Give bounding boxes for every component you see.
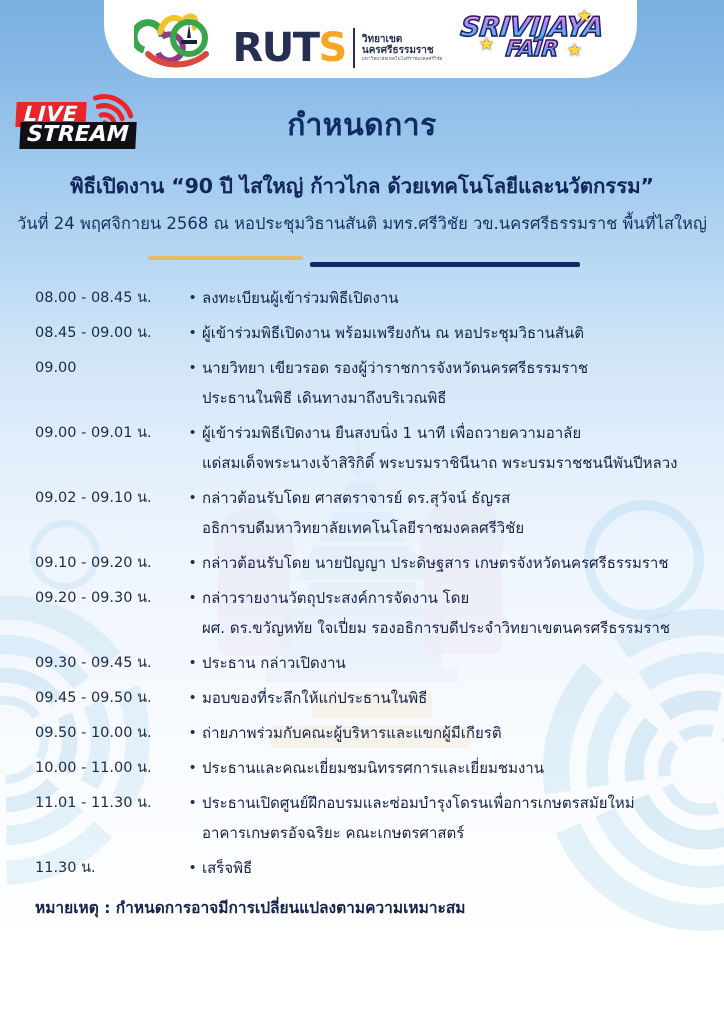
- agenda-description: •ประธานเปิดศูนย์ฝึกอบรมและซ่อมบำรุงโดรนเ…: [190, 788, 698, 848]
- agenda-text: ผู้เข้าร่วมพิธีเปิดงาน พร้อมเพรียงกัน ณ …: [202, 318, 584, 348]
- agenda-text: เสร็จพิธี: [202, 853, 252, 883]
- agenda-time: 09.45 - 09.50 น.: [35, 683, 190, 713]
- bullet-icon: •: [190, 753, 202, 783]
- agenda-text: ประธานและคณะเยี่ยมชมนิทรรศการและเยี่ยมชม…: [202, 753, 544, 783]
- bullet-icon: •: [190, 418, 202, 448]
- header-logo-card: RUTS วิทยาเขต นครศรีธรรมราช มหาวิทยาลัยเ…: [104, 0, 637, 78]
- agenda-row: 10.00 - 11.00 น.•ประธานและคณะเยี่ยมชมนิท…: [0, 753, 724, 783]
- agenda-description: •ผู้เข้าร่วมพิธีเปิดงาน พร้อมเพรียงกัน ณ…: [190, 318, 698, 348]
- agenda-text: ลงทะเบียนผู้เข้าร่วมพิธีเปิดงาน: [202, 283, 399, 313]
- ruts-wordmark: RUTS วิทยาเขต นครศรีธรรมราช มหาวิทยาลัยเ…: [232, 28, 442, 68]
- star-icon-mid: ★: [479, 34, 495, 55]
- agenda-time: 09.02 - 09.10 น.: [35, 483, 190, 513]
- ruts-word-main: RUT: [232, 25, 318, 71]
- agenda-row: 09.10 - 09.20 น.•กล่าวต้อนรับโดย นายปัญญ…: [0, 548, 724, 578]
- agenda-description: •ประธานและคณะเยี่ยมชมนิทรรศการและเยี่ยมช…: [190, 753, 698, 783]
- agenda-time: 09.50 - 10.00 น.: [35, 718, 190, 748]
- agenda-line: •อธิการบดีมหาวิทยาลัยเทคโนโลยีราชมงคลศรี…: [190, 513, 698, 543]
- agenda-text: กล่าวต้อนรับโดย ศาสตราจารย์ ดร.สุวัจน์ ธ…: [202, 483, 510, 513]
- agenda-line: •ผู้เข้าร่วมพิธีเปิดงาน ยืนสงบนิ่ง 1 นาท…: [190, 418, 698, 448]
- agenda-line: •ประธานและคณะเยี่ยมชมนิทรรศการและเยี่ยมช…: [190, 753, 698, 783]
- ruts-word: RUTS: [232, 28, 345, 68]
- agenda-row: 09.00 - 09.01 น.•ผู้เข้าร่วมพิธีเปิดงาน …: [0, 418, 724, 478]
- agenda-line: •กล่าวต้อนรับโดย นายปัญญา ประดิษฐสาร เกษ…: [190, 548, 698, 578]
- agenda-description: •ประธาน กล่าวเปิดงาน: [190, 648, 698, 678]
- ruts-divider-rule: [353, 28, 355, 68]
- agenda-time: 08.45 - 09.00 น.: [35, 318, 190, 348]
- agenda-list: 08.00 - 08.45 น.•ลงทะเบียนผู้เข้าร่วมพิธ…: [0, 283, 724, 888]
- page-title: กำหนดการ: [0, 102, 724, 149]
- ruts-subtitle-block: วิทยาเขต นครศรีธรรมราช มหาวิทยาลัยเทคโนโ…: [362, 34, 443, 63]
- star-icon-right: ★: [567, 40, 583, 61]
- divider-navy: [310, 262, 580, 267]
- agenda-line: •ผู้เข้าร่วมพิธีเปิดงาน พร้อมเพรียงกัน ณ…: [190, 318, 698, 348]
- agenda-description: •ผู้เข้าร่วมพิธีเปิดงาน ยืนสงบนิ่ง 1 นาท…: [190, 418, 698, 478]
- agenda-time: 10.00 - 11.00 น.: [35, 753, 190, 783]
- agenda-row: 09.30 - 09.45 น.•ประธาน กล่าวเปิดงาน: [0, 648, 724, 678]
- event-title: พิธีเปิดงาน “90 ปี ไสใหญ่ ก้าวไกล ด้วยเท…: [0, 170, 724, 203]
- agenda-description: •กล่าวต้อนรับโดย นายปัญญา ประดิษฐสาร เกษ…: [190, 548, 698, 578]
- ruts-sub-line1: วิทยาเขต: [362, 34, 443, 46]
- agenda-text: อาคารเกษตรอัจฉริยะ คณะเกษตรศาสตร์: [202, 818, 464, 848]
- agenda-row: 11.01 - 11.30 น.•ประธานเปิดศูนย์ฝึกอบรมแ…: [0, 788, 724, 848]
- bullet-icon: •: [190, 483, 202, 513]
- bullet-icon: •: [190, 648, 202, 678]
- ruts-word-accent: S: [319, 25, 346, 71]
- agenda-text: ผศ. ดร.ขวัญหทัย ใจเปี่ยม รองอธิการบดีประ…: [202, 613, 670, 643]
- agenda-time: 09.00: [35, 353, 190, 383]
- agenda-row: 09.20 - 09.30 น.•กล่าวรายงานวัตถุประสงค์…: [0, 583, 724, 643]
- agenda-text: ผู้เข้าร่วมพิธีเปิดงาน ยืนสงบนิ่ง 1 นาที…: [202, 418, 581, 448]
- agenda-text: แด่สมเด็จพระนางเจ้าสิริกิติ์ พระบรมราชิน…: [202, 448, 677, 478]
- agenda-line: •เสร็จพิธี: [190, 853, 698, 883]
- agenda-line: •กล่าวต้อนรับโดย ศาสตราจารย์ ดร.สุวัจน์ …: [190, 483, 698, 513]
- agenda-time: 09.10 - 09.20 น.: [35, 548, 190, 578]
- ruts-sub-line2: นครศรีธรรมราช: [362, 45, 443, 57]
- bullet-icon: •: [190, 583, 202, 613]
- agenda-line: •ประธานในพิธี เดินทางมาถึงบริเวณพิธี: [190, 383, 698, 413]
- agenda-text: อธิการบดีมหาวิทยาลัยเทคโนโลยีราชมงคลศรีว…: [202, 513, 524, 543]
- agenda-description: •กล่าวต้อนรับโดย ศาสตราจารย์ ดร.สุวัจน์ …: [190, 483, 698, 543]
- agenda-text: นายวิทยา เขียวรอด รองผู้ว่าราชการจังหวัด…: [202, 353, 588, 383]
- agenda-text: ประธาน กล่าวเปิดงาน: [202, 648, 346, 678]
- agenda-row: 11.30 น.•เสร็จพิธี: [0, 853, 724, 883]
- agenda-time: 11.01 - 11.30 น.: [35, 788, 190, 818]
- bullet-icon: •: [190, 548, 202, 578]
- agenda-text: ประธานเปิดศูนย์ฝึกอบรมและซ่อมบำรุงโดรนเพ…: [202, 788, 635, 818]
- 60-years-anniversary-logo: [134, 10, 218, 68]
- agenda-description: •นายวิทยา เขียวรอด รองผู้ว่าราชการจังหวั…: [190, 353, 698, 413]
- agenda-time: 08.00 - 08.45 น.: [35, 283, 190, 313]
- agenda-row: 08.00 - 08.45 น.•ลงทะเบียนผู้เข้าร่วมพิธ…: [0, 283, 724, 313]
- agenda-text: กล่าวต้อนรับโดย นายปัญญา ประดิษฐสาร เกษต…: [202, 548, 669, 578]
- agenda-time: 09.00 - 09.01 น.: [35, 418, 190, 448]
- agenda-description: •กล่าวรายงานวัตถุประสงค์การจัดงาน โดย•ผศ…: [190, 583, 698, 643]
- star-icon-top: ★: [577, 6, 593, 27]
- footnote: หมายเหตุ : กำหนดการอาจมีการเปลี่ยนแปลงตา…: [35, 895, 466, 920]
- bullet-icon: •: [190, 853, 202, 883]
- agenda-text: ถ่ายภาพร่วมกับคณะผู้บริหารและแขกผู้มีเกี…: [202, 718, 502, 748]
- bullet-icon: •: [190, 683, 202, 713]
- event-subtitle: วันที่ 24 พฤศจิกายน 2568 ณ หอประชุมวิธาน…: [0, 211, 724, 237]
- agenda-line: •ประธาน กล่าวเปิดงาน: [190, 648, 698, 678]
- srivijaya-fair-logo: SRIVIJAYA FAIR ★ ★ ★: [457, 4, 607, 68]
- agenda-line: •ถ่ายภาพร่วมกับคณะผู้บริหารและแขกผู้มีเก…: [190, 718, 698, 748]
- agenda-description: •มอบของที่ระลึกให้แก่ประธานในพิธี: [190, 683, 698, 713]
- agenda-text: ประธานในพิธี เดินทางมาถึงบริเวณพิธี: [202, 383, 446, 413]
- agenda-line: •อาคารเกษตรอัจฉริยะ คณะเกษตรศาสตร์: [190, 818, 698, 848]
- agenda-description: •ถ่ายภาพร่วมกับคณะผู้บริหารและแขกผู้มีเก…: [190, 718, 698, 748]
- agenda-description: •ลงทะเบียนผู้เข้าร่วมพิธีเปิดงาน: [190, 283, 698, 313]
- agenda-row: 09.02 - 09.10 น.•กล่าวต้อนรับโดย ศาสตราจ…: [0, 483, 724, 543]
- agenda-description: •เสร็จพิธี: [190, 853, 698, 883]
- agenda-line: •นายวิทยา เขียวรอด รองผู้ว่าราชการจังหวั…: [190, 353, 698, 383]
- agenda-line: •ลงทะเบียนผู้เข้าร่วมพิธีเปิดงาน: [190, 283, 698, 313]
- bullet-icon: •: [190, 353, 202, 383]
- poster-canvas: RUTS วิทยาเขต นครศรีธรรมราช มหาวิทยาลัยเ…: [0, 0, 724, 1024]
- agenda-line: •ประธานเปิดศูนย์ฝึกอบรมและซ่อมบำรุงโดรนเ…: [190, 788, 698, 818]
- agenda-text: กล่าวรายงานวัตถุประสงค์การจัดงาน โดย: [202, 583, 469, 613]
- agenda-row: 08.45 - 09.00 น.•ผู้เข้าร่วมพิธีเปิดงาน …: [0, 318, 724, 348]
- ruts-sub-line3: มหาวิทยาลัยเทคโนโลยีราชมงคลศรีวิชัย: [362, 57, 443, 62]
- agenda-line: •แด่สมเด็จพระนางเจ้าสิริกิติ์ พระบรมราชิ…: [190, 448, 698, 478]
- agenda-row: 09.45 - 09.50 น.•มอบของที่ระลึกให้แก่ประ…: [0, 683, 724, 713]
- agenda-row: 09.50 - 10.00 น.•ถ่ายภาพร่วมกับคณะผู้บริ…: [0, 718, 724, 748]
- divider-gold: [148, 256, 303, 260]
- agenda-time: 09.20 - 09.30 น.: [35, 583, 190, 613]
- agenda-text: มอบของที่ระลึกให้แก่ประธานในพิธี: [202, 683, 427, 713]
- bullet-icon: •: [190, 718, 202, 748]
- agenda-row: 09.00•นายวิทยา เขียวรอด รองผู้ว่าราชการจ…: [0, 353, 724, 413]
- agenda-time: 09.30 - 09.45 น.: [35, 648, 190, 678]
- agenda-line: •มอบของที่ระลึกให้แก่ประธานในพิธี: [190, 683, 698, 713]
- agenda-time: 11.30 น.: [35, 853, 190, 883]
- agenda-line: •ผศ. ดร.ขวัญหทัย ใจเปี่ยม รองอธิการบดีปร…: [190, 613, 698, 643]
- agenda-line: •กล่าวรายงานวัตถุประสงค์การจัดงาน โดย: [190, 583, 698, 613]
- bullet-icon: •: [190, 283, 202, 313]
- bullet-icon: •: [190, 788, 202, 818]
- bullet-icon: •: [190, 318, 202, 348]
